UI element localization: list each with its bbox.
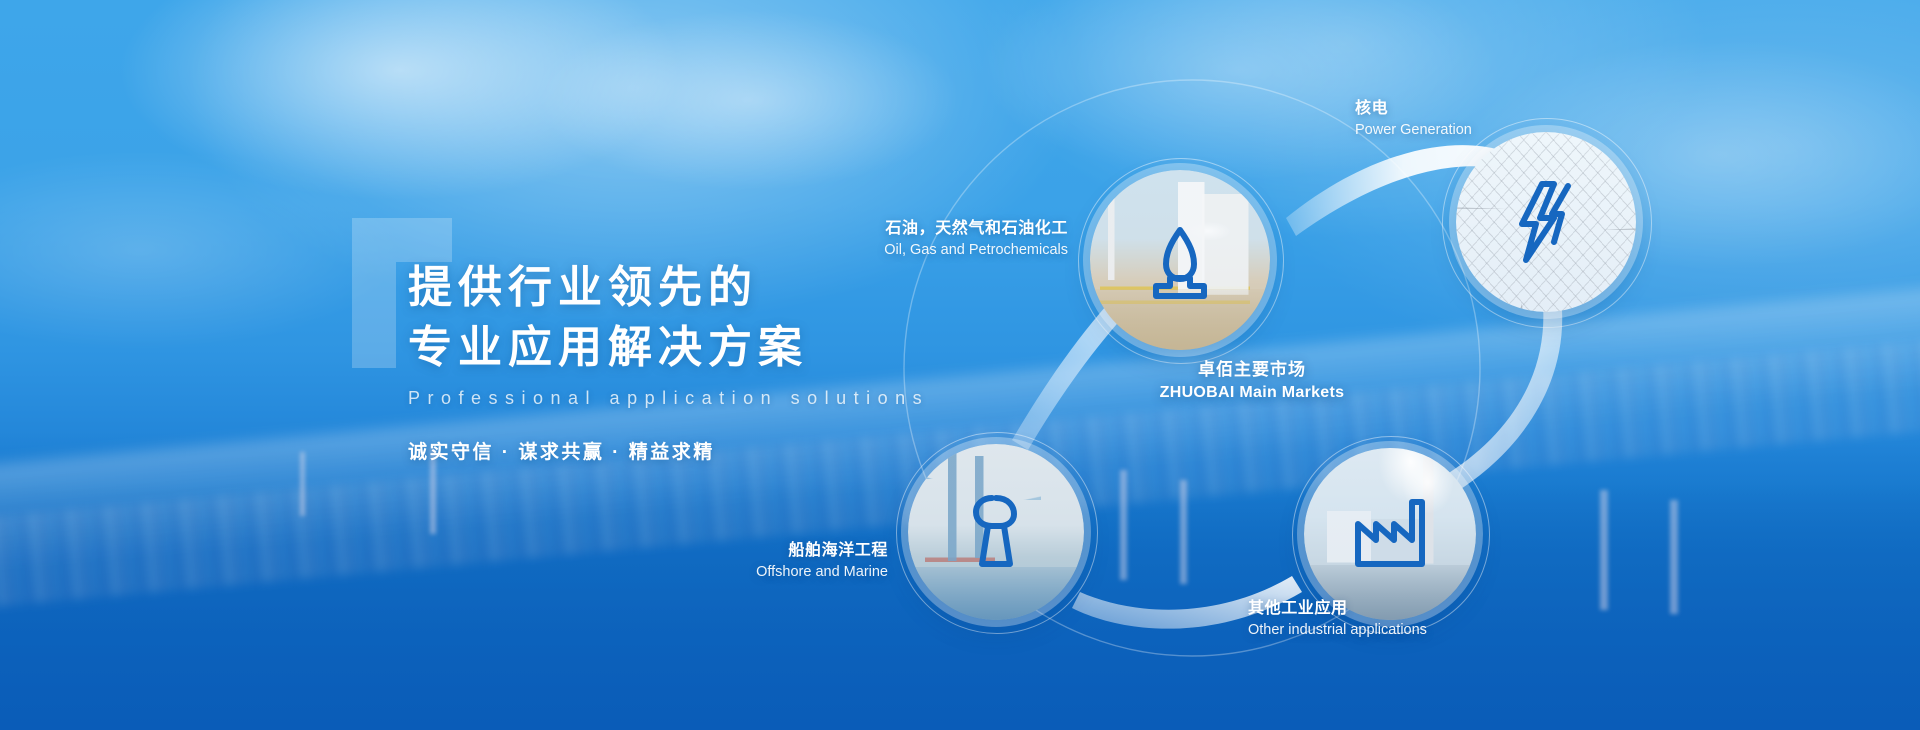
market-label-cn: 其他工业应用 <box>1248 598 1528 620</box>
hub-title: 卓佰主要市场 ZHUOBAI Main Markets <box>1112 358 1392 404</box>
market-label-cn: 核电 <box>1355 98 1595 120</box>
market-label-en: Other industrial applications <box>1248 620 1528 640</box>
lightning-bolt-icon <box>1456 132 1636 312</box>
gas-flame-icon <box>1090 170 1270 350</box>
market-label-oil-gas: 石油，天然气和石油化工 Oil, Gas and Petrochemicals <box>820 218 1068 260</box>
market-node-industrial[interactable] <box>1304 448 1476 620</box>
market-node-oil-gas[interactable] <box>1090 170 1270 350</box>
market-label-industrial: 其他工业应用 Other industrial applications <box>1248 598 1528 640</box>
mooring-bollard-icon <box>908 444 1084 620</box>
factory-icon <box>1304 448 1476 620</box>
market-label-offshore: 船舶海洋工程 Offshore and Marine <box>620 540 888 582</box>
market-label-cn: 船舶海洋工程 <box>620 540 888 562</box>
market-label-en: Offshore and Marine <box>620 562 888 582</box>
market-label-en: Oil, Gas and Petrochemicals <box>820 240 1068 260</box>
market-node-power[interactable] <box>1456 132 1636 312</box>
market-label-cn: 石油，天然气和石油化工 <box>820 218 1068 240</box>
market-label-power: 核电 Power Generation <box>1355 98 1595 140</box>
market-node-offshore[interactable] <box>908 444 1084 620</box>
hero-banner: 提供行业领先的 专业应用解决方案 Professional applicatio… <box>0 0 1920 730</box>
market-label-en: Power Generation <box>1355 120 1595 140</box>
market-diagram <box>0 0 1920 730</box>
hub-title-en: ZHUOBAI Main Markets <box>1112 382 1392 404</box>
hub-title-cn: 卓佰主要市场 <box>1112 358 1392 382</box>
